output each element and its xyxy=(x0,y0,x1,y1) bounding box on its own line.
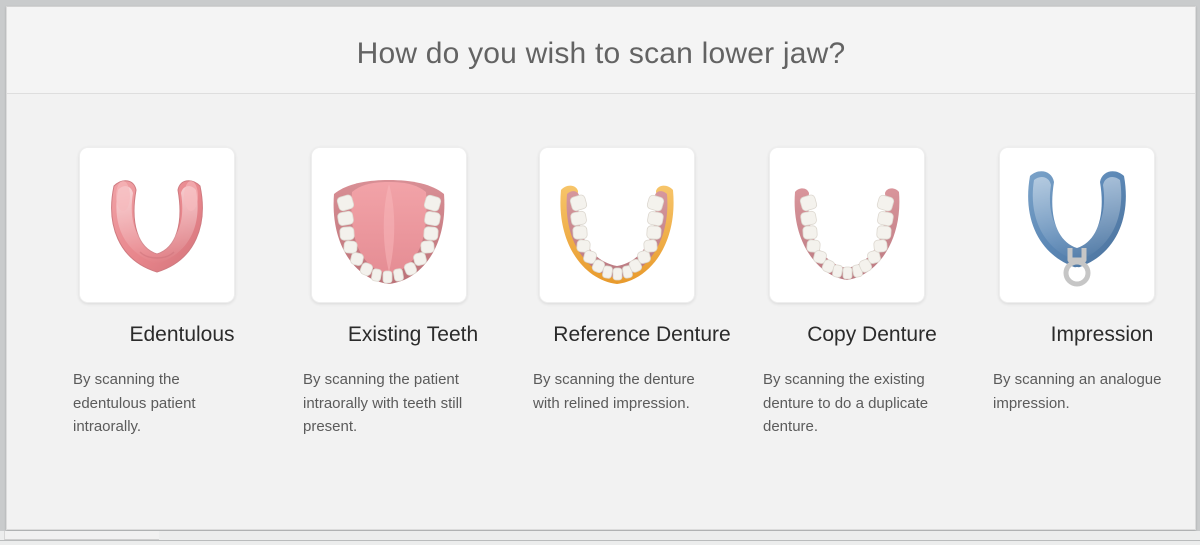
scan-option-thumbnail[interactable] xyxy=(79,147,235,303)
scan-option-reference-denture[interactable]: Reference Denture By scanning the dentur… xyxy=(533,147,745,415)
lower-jaw-with-teeth-icon xyxy=(312,148,466,302)
existing-denture-icon xyxy=(770,148,924,302)
scan-option-thumbnail[interactable] xyxy=(769,147,925,303)
edentulous-lower-jaw-icon xyxy=(80,148,234,302)
scan-option-title: Reference Denture xyxy=(533,323,745,347)
scan-option-copy-denture[interactable]: Copy Denture By scanning the existing de… xyxy=(763,147,975,439)
scan-option-description: By scanning the denture with relined imp… xyxy=(533,368,731,415)
scan-option-thumbnail[interactable] xyxy=(999,147,1155,303)
analogue-impression-tray-icon xyxy=(1000,148,1154,302)
scan-option-description: By scanning the patient intraorally with… xyxy=(303,368,495,439)
scan-option-title: Copy Denture xyxy=(763,323,975,347)
screen: How do you wish to scan lower jaw? xyxy=(0,0,1200,545)
scan-option-edentulous[interactable]: Edentulous By scanning the edentulous pa… xyxy=(73,147,285,439)
bottom-edge-line xyxy=(0,540,1200,541)
scan-option-thumbnail[interactable] xyxy=(539,147,695,303)
dialog-header: How do you wish to scan lower jaw? xyxy=(7,7,1195,94)
scan-option-description: By scanning an analogue impression. xyxy=(993,368,1195,415)
bottom-left-panel-corner xyxy=(4,531,159,540)
window-bottom-strip xyxy=(0,531,1200,545)
scan-mode-dialog: How do you wish to scan lower jaw? xyxy=(6,6,1196,530)
scan-option-impression[interactable]: Impression By scanning an analogue impre… xyxy=(993,147,1200,415)
scan-option-title: Existing Teeth xyxy=(303,323,515,347)
scan-option-title: Edentulous xyxy=(73,323,285,347)
denture-with-relined-impression-icon xyxy=(540,148,694,302)
scan-option-existing-teeth[interactable]: Existing Teeth By scanning the patient i… xyxy=(303,147,515,439)
scan-option-title: Impression xyxy=(993,323,1200,347)
dialog-title: How do you wish to scan lower jaw? xyxy=(7,37,1195,71)
scan-mode-options: Edentulous By scanning the edentulous pa… xyxy=(73,147,1193,477)
scan-option-description: By scanning the existing denture to do a… xyxy=(763,368,957,439)
scan-option-thumbnail[interactable] xyxy=(311,147,467,303)
scan-option-description: By scanning the edentulous patient intra… xyxy=(73,368,225,439)
